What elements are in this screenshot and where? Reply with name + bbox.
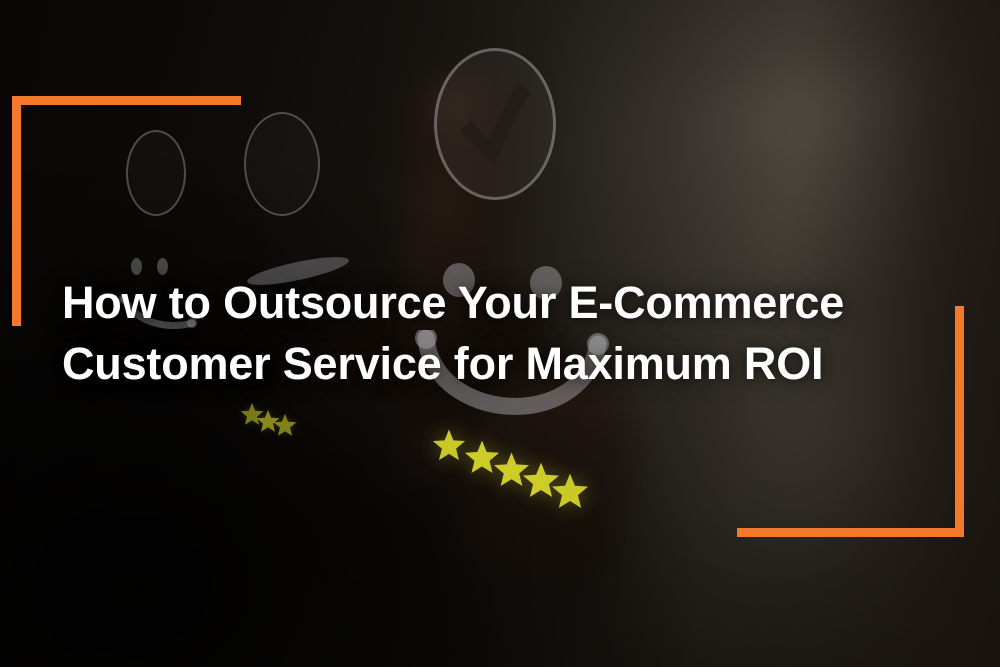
star-icon (551, 472, 589, 510)
check-icon (455, 70, 535, 175)
corner-bracket-bottom-right-horizontal (737, 528, 964, 537)
star-icon (432, 428, 466, 462)
blog-header-banner: How to Outsource Your E-Commerce Custome… (0, 0, 1000, 667)
corner-bracket-bottom-right-vertical (955, 306, 964, 537)
page-title: How to Outsource Your E-Commerce Custome… (62, 272, 942, 394)
corner-bracket-top-left-vertical (12, 96, 21, 326)
decorative-ring-1 (126, 130, 186, 216)
decorative-ring-2 (244, 112, 320, 216)
star-icon (273, 413, 297, 437)
corner-bracket-top-left-horizontal (12, 96, 241, 105)
